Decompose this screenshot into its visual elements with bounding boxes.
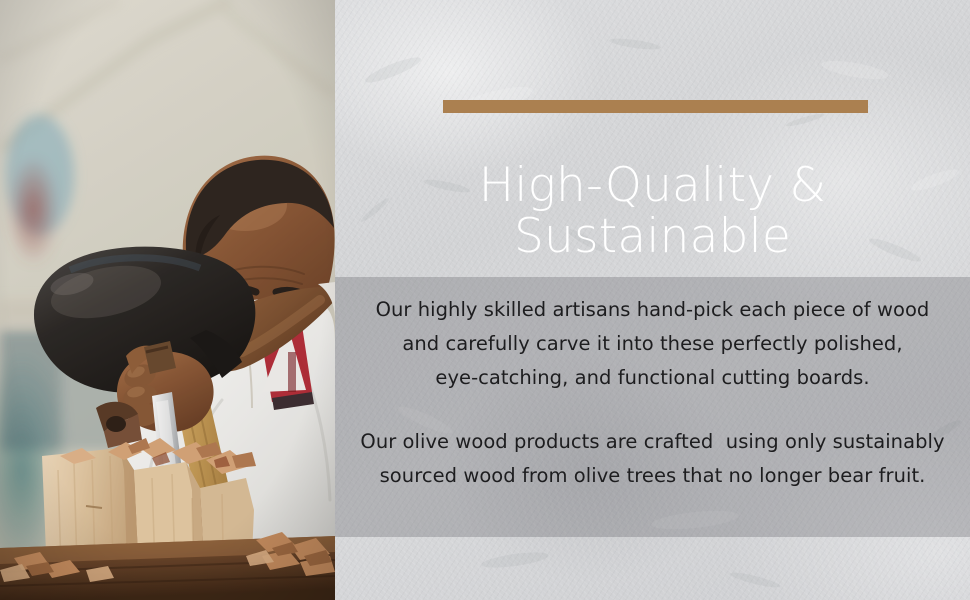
paragraph-sustainability-line-1: Our olive wood products are crafted usin…	[355, 425, 950, 459]
content-panel: High-Quality & Sustainable Our highly sk…	[335, 0, 970, 600]
paragraph-artisans: Our highly skilled artisans hand-pick ea…	[355, 293, 950, 395]
gold-accent-rule	[443, 100, 868, 113]
artisan-photo-illustration	[0, 0, 335, 600]
headline-line-2: Sustainable	[363, 211, 942, 262]
headline-line-1: High-Quality &	[363, 160, 942, 211]
paragraph-sustainability-line-2: sourced wood from olive trees that no lo…	[355, 459, 950, 493]
paragraph-artisans-line-3: eye-catching, and functional cutting boa…	[355, 361, 950, 395]
body-copy-container: Our highly skilled artisans hand-pick ea…	[335, 277, 970, 537]
paragraph-sustainability: Our olive wood products are crafted usin…	[355, 425, 950, 493]
page-title: High-Quality & Sustainable	[335, 160, 970, 262]
paragraph-artisans-line-1: Our highly skilled artisans hand-pick ea…	[355, 293, 950, 327]
paragraph-artisans-line-2: and carefully carve it into these perfec…	[355, 327, 950, 361]
product-feature-banner: High-Quality & Sustainable Our highly sk…	[0, 0, 970, 600]
artisan-photo	[0, 0, 335, 600]
